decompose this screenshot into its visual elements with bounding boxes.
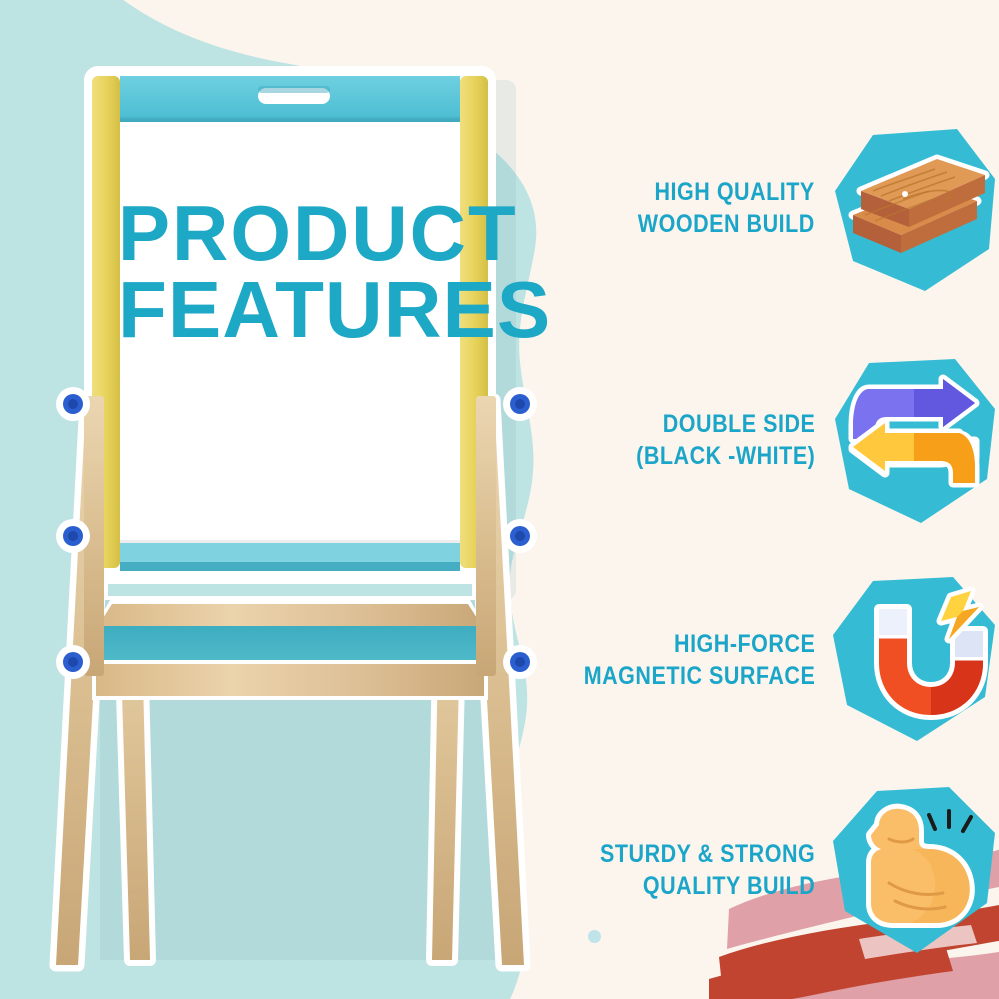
feature-line-1: HIGH-FORCE (583, 628, 815, 660)
knob-right-lower (503, 519, 537, 553)
feature-badge-double-side (829, 353, 999, 528)
board-title-line-1: PRODUCT (118, 195, 486, 271)
product-features-infographic: PRODUCT FEATURES HIGH QUALITY WOODEN BUI… (0, 0, 999, 999)
two-way-arrows-icon (853, 379, 975, 483)
feature-item-magnetic-surface: HIGH-FORCE MAGNETIC SURFACE (575, 560, 999, 760)
board-top-bar (120, 76, 460, 124)
board-title: PRODUCT FEATURES (118, 195, 486, 350)
feature-line-2: QUALITY BUILD (600, 870, 815, 902)
feature-line-2: WOODEN BUILD (638, 208, 815, 240)
knob-left-tray (56, 645, 90, 679)
feature-line-2: (BLACK -WHITE) (636, 440, 815, 472)
feature-label-sturdy-build: STURDY & STRONG QUALITY BUILD (600, 838, 815, 902)
feature-badge-sturdy-build (829, 783, 999, 958)
feature-label-double-side: DOUBLE SIDE (BLACK -WHITE) (636, 408, 815, 472)
knob-right-tray (503, 645, 537, 679)
knob-right-upper (503, 387, 537, 421)
feature-item-wooden-build: HIGH QUALITY WOODEN BUILD (575, 108, 999, 308)
feature-line-2: MAGNETIC SURFACE (583, 660, 815, 692)
feature-label-wooden-build: HIGH QUALITY WOODEN BUILD (638, 176, 815, 240)
wooden-easel-illustration: PRODUCT FEATURES (0, 0, 580, 999)
feature-item-sturdy-build: STURDY & STRONG QUALITY BUILD (575, 770, 999, 970)
board-title-line-2: FEATURES (118, 271, 486, 349)
feature-list: HIGH QUALITY WOODEN BUILD (575, 0, 999, 999)
feature-line-1: STURDY & STRONG (600, 838, 815, 870)
feature-badge-magnetic-surface (829, 573, 999, 748)
feature-label-magnetic-surface: HIGH-FORCE MAGNETIC SURFACE (583, 628, 815, 692)
board-bottom-bar (120, 543, 460, 571)
knob-left-upper (56, 387, 90, 421)
feature-line-1: HIGH QUALITY (638, 176, 815, 208)
easel-pen-tray (92, 576, 488, 700)
knob-left-lower (56, 519, 90, 553)
feature-badge-wooden-build (829, 121, 999, 296)
feature-item-double-side: DOUBLE SIDE (BLACK -WHITE) (575, 340, 999, 540)
feature-line-1: DOUBLE SIDE (636, 408, 815, 440)
